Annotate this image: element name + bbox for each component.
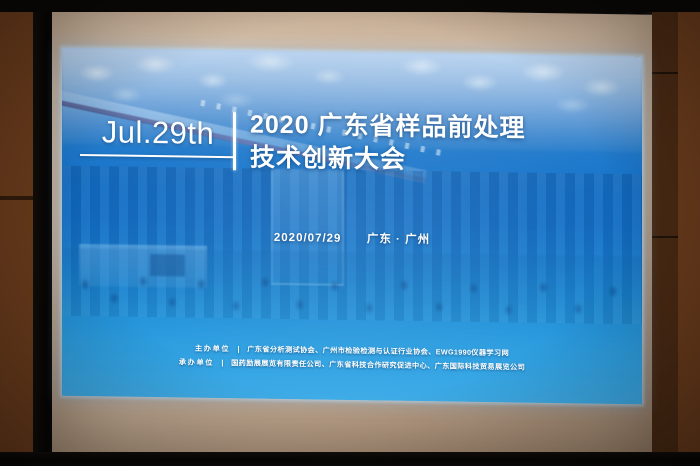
slide-title-line-1: 2020 广东省样品前处理 [250, 108, 526, 145]
slide-organizers: 主办单位 | 广东省分析测试协会、广州市检验检测与认证行业协会、EWG1990仪… [62, 340, 642, 377]
wood-wall-panel-right [678, 0, 700, 466]
ceiling-shadow-band [0, 0, 700, 12]
slide-meta-line: 2020/07/29 广东 · 广州 [62, 226, 642, 251]
title-divider-bar [233, 112, 236, 170]
organizer-label: 承办单位 [179, 357, 214, 367]
organizer-separator: | [233, 342, 245, 356]
date-badge: Jul.29th [80, 116, 236, 158]
slide-title-line-2: 技术创新大会 [250, 141, 526, 178]
slide-title: 2020 广东省样品前处理 技术创新大会 [250, 108, 526, 177]
slide-surface: Jul.29th 2020 广东省样品前处理 技术创新大会 2020/07/29… [62, 48, 642, 405]
slide-meta-date: 2020/07/29 [274, 232, 342, 245]
organizer-separator: | [216, 356, 228, 370]
wood-wall-panel-left [0, 0, 33, 466]
wood-wall-panel-right-inner [652, 0, 678, 466]
organizer-value: 国药励展展览有限责任公司、广东省科技合作研究促进中心、广东国际科技贸易展览公司 [231, 358, 525, 371]
floor-shadow-band [0, 452, 700, 466]
projection-screen: Jul.29th 2020 广东省样品前处理 技术创新大会 2020/07/29… [62, 48, 642, 405]
organizer-value: 广东省分析测试协会、广州市检验检测与认证行业协会、EWG1990仪器学习网 [247, 344, 509, 357]
date-badge-text: Jul.29th [80, 116, 236, 149]
organizer-label: 主办单位 [195, 344, 230, 354]
slide-text-layer: Jul.29th 2020 广东省样品前处理 技术创新大会 2020/07/29… [62, 48, 642, 405]
slide-meta-location: 广东 · 广州 [367, 233, 430, 246]
conference-room-photo: Jul.29th 2020 广东省样品前处理 技术创新大会 2020/07/29… [0, 0, 700, 466]
date-badge-underline [80, 154, 236, 158]
